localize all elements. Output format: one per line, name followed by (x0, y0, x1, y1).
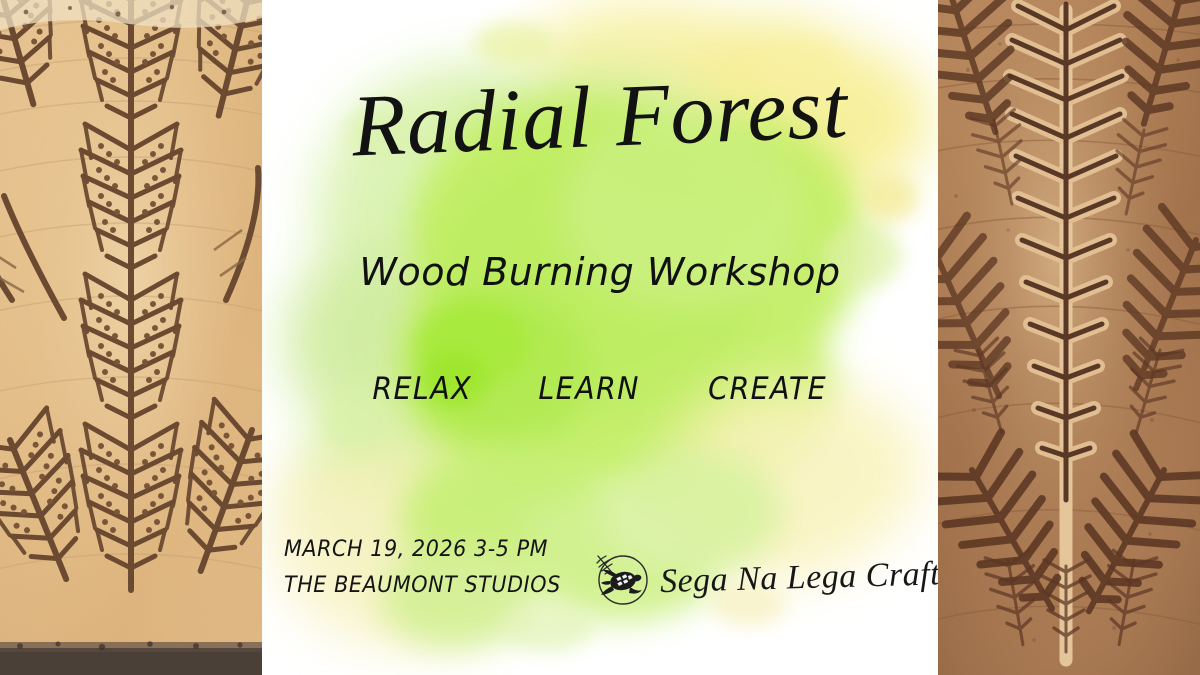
event-date-time: MARCH 19, 2026 3-5 PM (284, 532, 561, 568)
wood-panel-right (938, 0, 1200, 675)
keyword-learn: LEARN (539, 371, 640, 407)
event-venue: THE BEAUMONT STUDIOS (284, 568, 561, 604)
turtle-in-circle-icon (592, 548, 652, 608)
poster-content: Radial Forest Wood Burning Workshop RELA… (262, 0, 938, 675)
event-details: MARCH 19, 2026 3-5 PM THE BEAUMONT STUDI… (284, 532, 578, 603)
keyword-list: RELAX LEARN CREATE (262, 371, 938, 407)
wood-panel-left (0, 0, 262, 675)
page-title: Radial Forest (262, 61, 938, 175)
brand-lockup: Sega Na Lega Crafts (592, 548, 938, 608)
event-poster: Radial Forest Wood Burning Workshop RELA… (0, 0, 1200, 675)
keyword-relax: RELAX (372, 371, 472, 407)
poster-center-card: Radial Forest Wood Burning Workshop RELA… (262, 0, 938, 675)
keyword-create: CREATE (708, 371, 827, 407)
brand-name: Sega Na Lega Crafts (660, 555, 938, 601)
poster-subtitle: Wood Burning Workshop (262, 250, 938, 294)
